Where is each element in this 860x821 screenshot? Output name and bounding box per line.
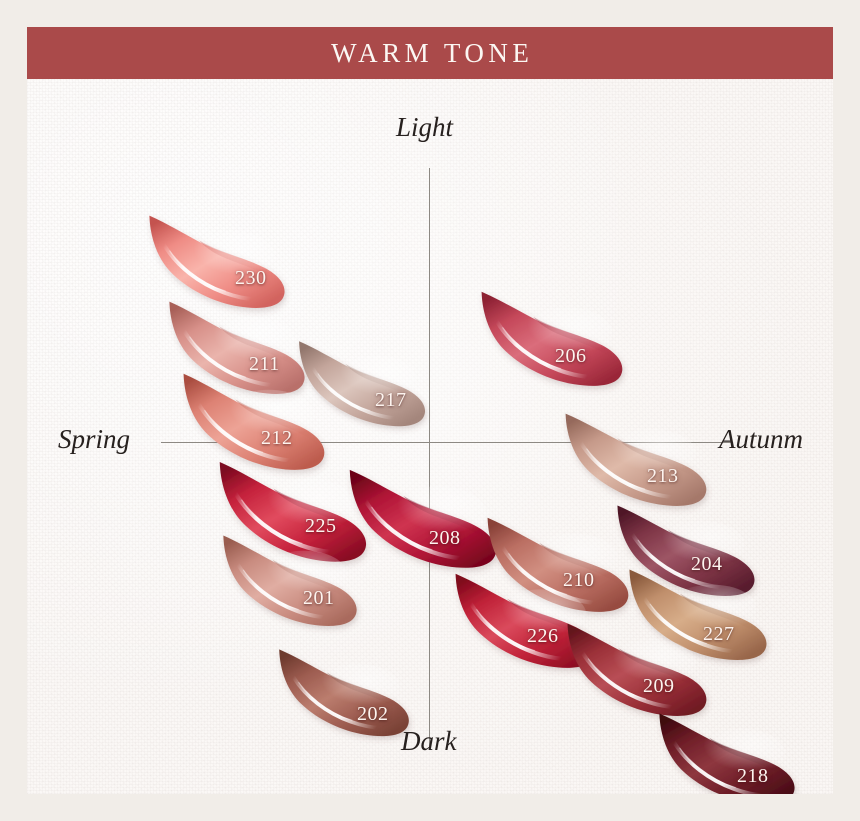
lipstick-swatch-202[interactable]: 202	[275, 645, 415, 739]
swatch-smear-shape	[477, 287, 629, 389]
lipstick-swatch-230[interactable]: 230	[145, 211, 291, 311]
chart-canvas: Light Dark Spring Autunm 230211217212225…	[27, 79, 833, 794]
lipstick-tone-chart-page: WARM TONE Light Dark Spring Autunm 23021…	[0, 0, 860, 821]
swatch-smear-shape	[345, 465, 503, 571]
lipstick-swatch-209[interactable]: 209	[563, 619, 713, 719]
lipstick-swatch-218[interactable]: 218	[655, 709, 801, 794]
swatch-smear-shape	[563, 619, 713, 719]
axis-label-dark: Dark	[401, 726, 457, 757]
lipstick-swatch-208[interactable]: 208	[345, 465, 503, 571]
swatch-smear-shape	[275, 645, 415, 739]
lipstick-swatch-213[interactable]: 213	[561, 409, 713, 509]
lipstick-swatch-201[interactable]: 201	[219, 531, 363, 629]
swatch-smear-shape	[145, 211, 291, 311]
axis-vertical-line	[429, 168, 430, 748]
axis-label-spring: Spring	[58, 424, 130, 455]
axis-label-autumn: Autunm	[719, 424, 803, 455]
page-title: WARM TONE	[327, 38, 534, 69]
axis-label-light: Light	[396, 112, 453, 143]
lipstick-swatch-206[interactable]: 206	[477, 287, 629, 389]
swatch-smear-shape	[561, 409, 713, 509]
header-band: WARM TONE	[27, 27, 833, 79]
swatch-smear-shape	[219, 531, 363, 629]
swatch-smear-shape	[655, 709, 801, 794]
